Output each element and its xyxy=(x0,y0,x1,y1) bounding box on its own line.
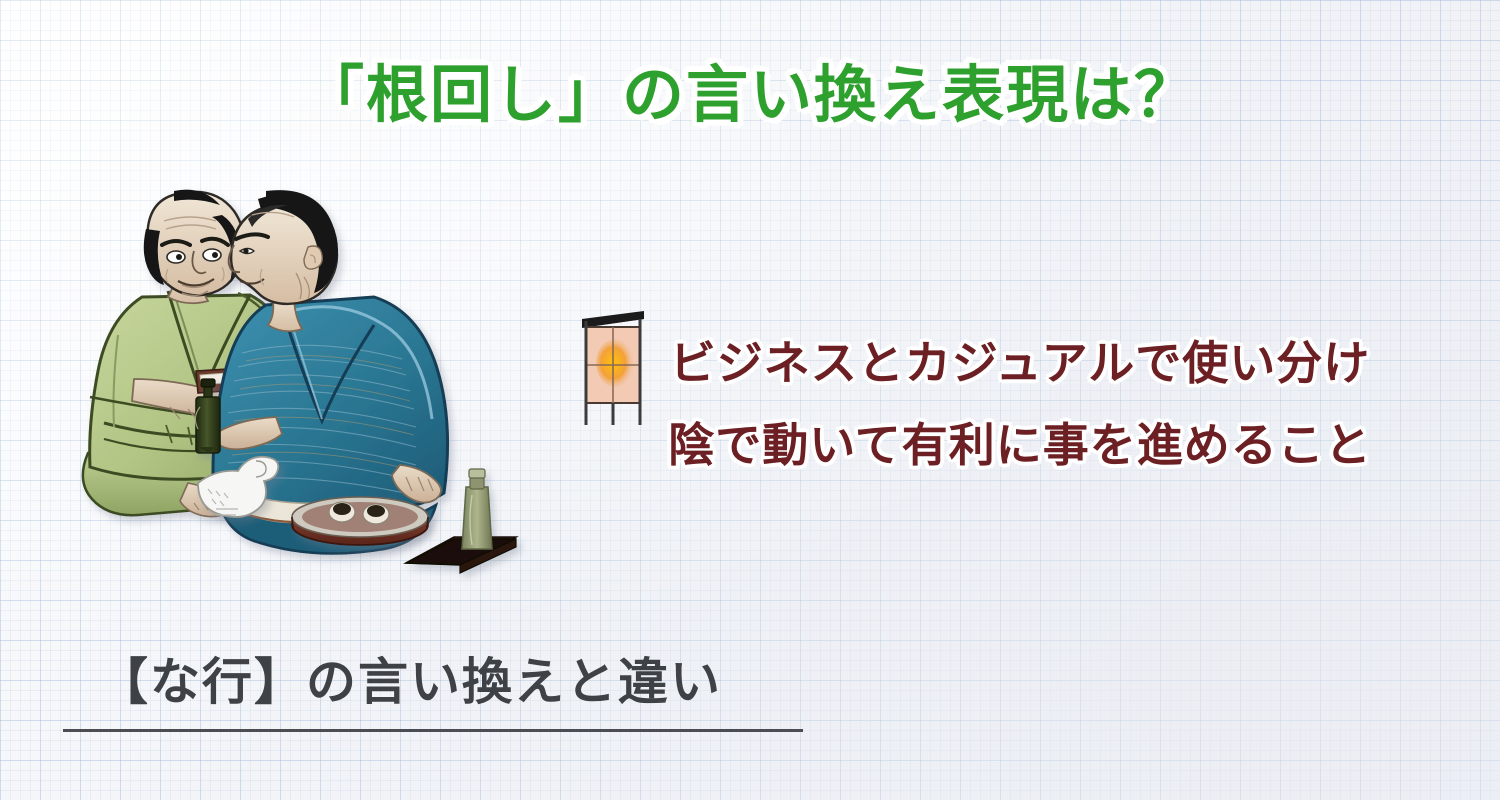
round-lacquer-tray xyxy=(292,497,428,545)
two-men-drinking-sake-illustration xyxy=(70,185,690,605)
category-caption: 【な行】の言い換えと違い xyxy=(98,655,818,710)
caption-underline xyxy=(63,729,803,732)
summary-line-2: 陰で動いて有利に事を進めること xyxy=(640,422,1400,468)
summary-line-1: ビジネスとカジュアルで使い分け xyxy=(640,340,1400,386)
page-title: 「根回し」の言い換え表現は？ xyxy=(0,44,1500,134)
blue-man-head xyxy=(229,190,338,304)
summary-text-block: ビジネスとカジュアルで使い分け 陰で動いて有利に事を進めること xyxy=(640,340,1400,468)
green-man-head xyxy=(144,190,244,296)
poster-canvas: 「根回し」の言い換え表現は？ ビジネスとカジュアルで使い分け 陰で動いて有利に事… xyxy=(0,0,1500,800)
category-caption-label: 【な行】の言い換えと違い xyxy=(98,655,818,710)
paper-lantern xyxy=(582,311,644,425)
